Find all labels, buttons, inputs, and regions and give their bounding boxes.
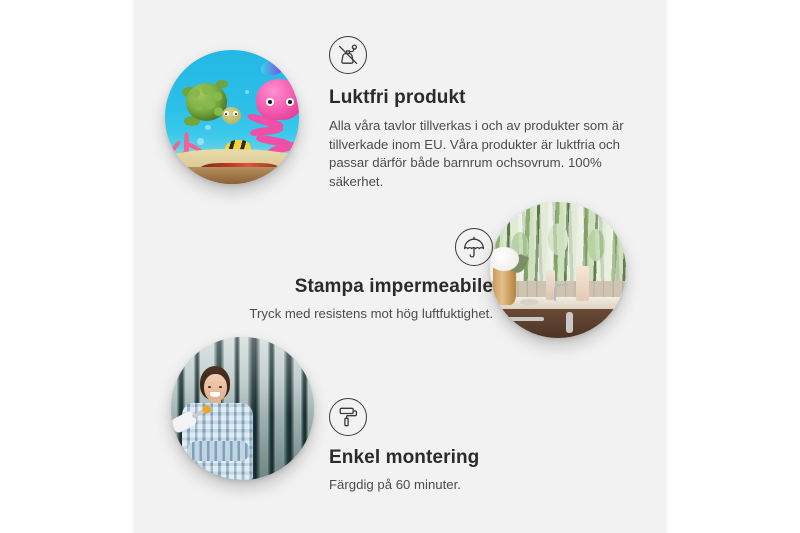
- feature-image-odourless: [165, 50, 299, 184]
- paint-roller-icon: [329, 398, 367, 436]
- feature-text-easy-mounting: Enkel montering Färgdig på 60 minuter.: [329, 398, 619, 495]
- feature-text-odourless: Luktfri produkt Alla våra tavlor tillver…: [329, 36, 629, 192]
- blue-fish: [261, 61, 282, 76]
- no-fragrance-icon: [329, 36, 367, 74]
- feature-body: Färgdig på 60 minuter.: [329, 476, 619, 495]
- feature-heading: Stampa impermeabile: [193, 276, 493, 299]
- circular-photo: [171, 337, 314, 480]
- feature-text-waterproof: Stampa impermeabile Tryck med resistens …: [193, 228, 493, 324]
- feature-heading: Luktfri produkt: [329, 87, 629, 110]
- feature-body: Alla våra tavlor tillverkas i och av pro…: [329, 117, 629, 192]
- forest-photo: [171, 337, 314, 480]
- feature-body: Tryck med resistens mot hög luftfuktighe…: [193, 305, 493, 324]
- umbrella-icon: [455, 228, 493, 266]
- octopus: [248, 79, 299, 149]
- feature-heading: Enkel montering: [329, 447, 619, 470]
- woman-with-roller: [180, 366, 269, 480]
- feature-image-easy-mounting: [171, 337, 314, 480]
- underwater-illustration: [165, 50, 299, 184]
- circular-photo: [490, 202, 626, 338]
- bathroom-photo: [490, 202, 626, 338]
- feature-panel: Luktfri produkt Alla våra tavlor tillver…: [133, 0, 667, 533]
- turtle: [181, 79, 237, 127]
- circular-photo: [165, 50, 299, 184]
- feature-image-waterproof: [490, 202, 626, 338]
